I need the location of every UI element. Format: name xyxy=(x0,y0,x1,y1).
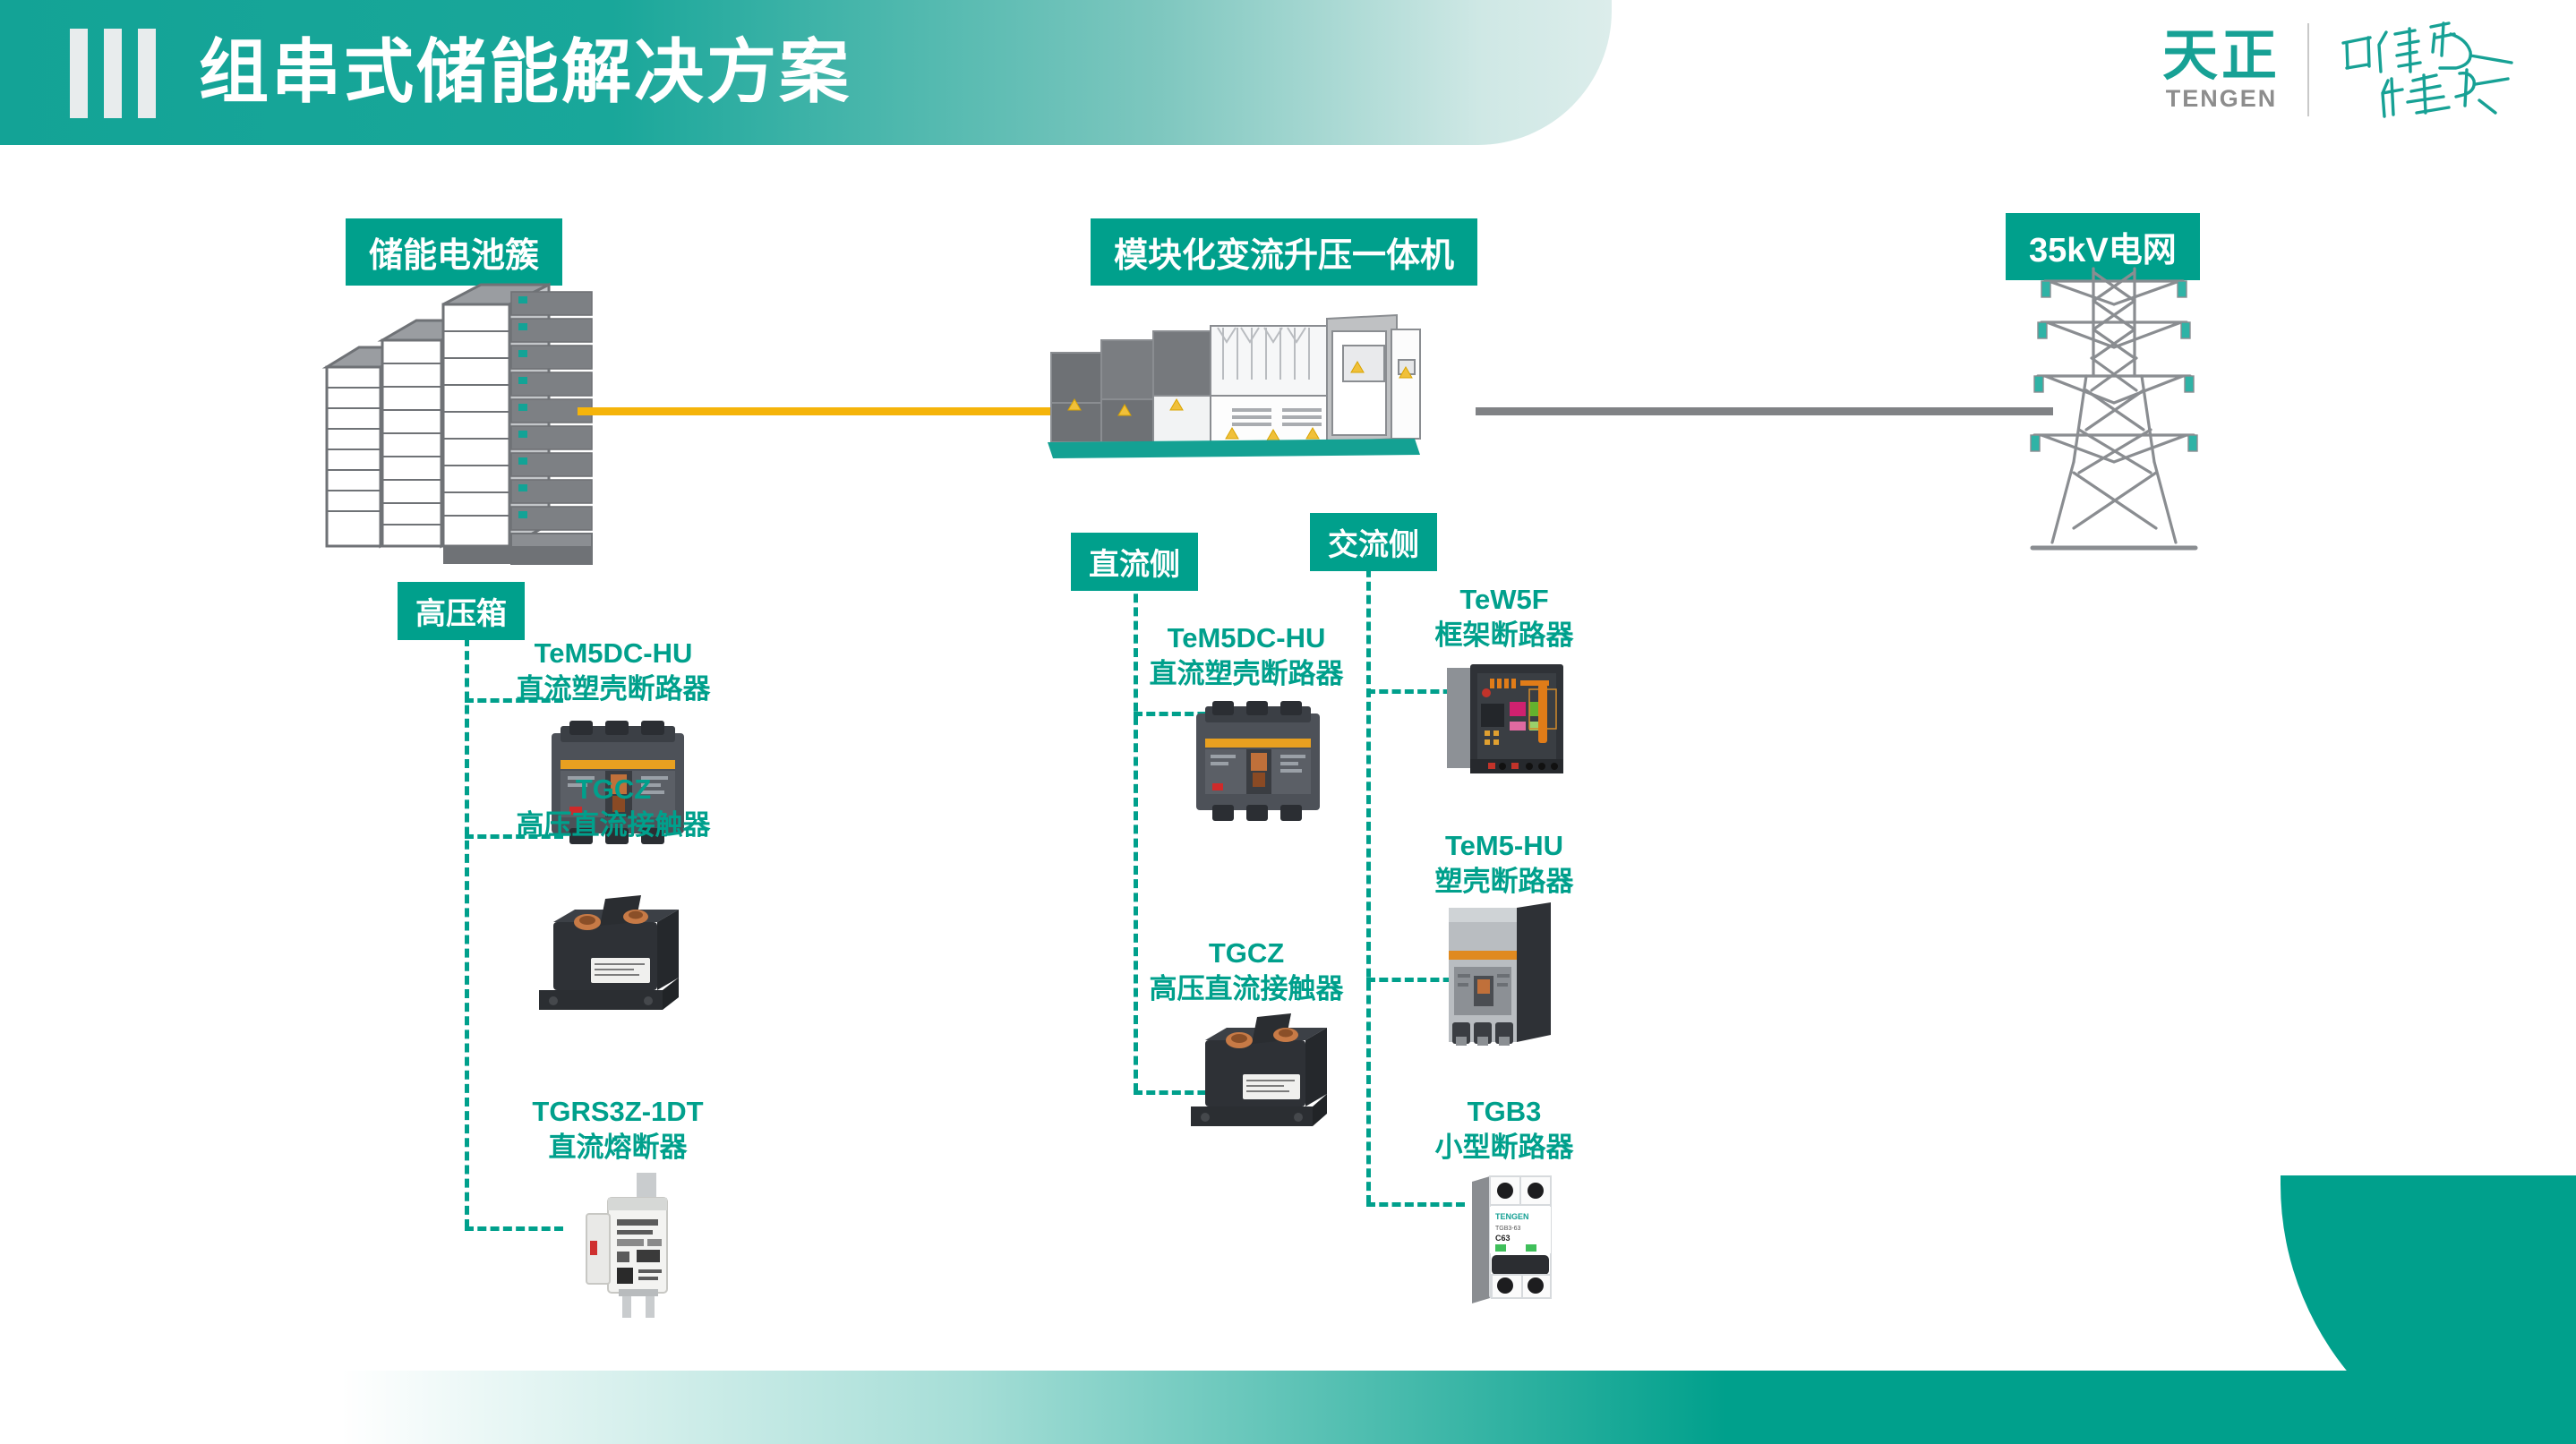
bottom-accent-bar xyxy=(340,1371,2576,1444)
transmission-tower-icon xyxy=(2029,269,2199,555)
svg-text:TGB3-63: TGB3-63 xyxy=(1495,1226,1521,1232)
page-title: 组串式储能解决方案 xyxy=(199,21,852,122)
dc-bus-line xyxy=(578,407,1097,415)
logo-english-name: TENGEN xyxy=(2166,85,2278,112)
product-label-ac-1: TeW5F 框架断路器 xyxy=(1397,582,1612,654)
product-label-hv-1: TeM5DC-HU 直流塑壳断路器 xyxy=(506,636,721,707)
logo-mark: 天正 TENGEN xyxy=(2162,28,2281,112)
logo-chinese-name: 天正 xyxy=(2162,28,2281,85)
acb-icon xyxy=(1443,661,1569,777)
contactor-icon xyxy=(1182,1013,1330,1139)
mccb-ac-icon xyxy=(1443,902,1558,1047)
sub-tag-ac-side: 交流侧 xyxy=(1310,513,1437,571)
sub-tag-hv-box: 高压箱 xyxy=(398,582,525,640)
contactor-icon xyxy=(528,895,680,1021)
stage-tag-battery: 储能电池簇 xyxy=(346,218,562,286)
dc-side-connector-trunk xyxy=(1134,580,1138,1092)
fuse-icon xyxy=(569,1173,685,1329)
hv-box-connector-trunk xyxy=(465,637,469,1228)
battery-rack-icon xyxy=(318,285,604,580)
mcb-icon: TENGEN TGB3-63 C63 xyxy=(1459,1171,1567,1305)
product-label-hv-3: TGRS3Z-1DT 直流熔断器 xyxy=(506,1094,730,1166)
header-bar: 组串式储能解决方案 xyxy=(0,0,1612,145)
ac-side-connector-trunk xyxy=(1366,555,1371,1204)
brand-slogan-handwriting-icon xyxy=(2336,16,2524,124)
product-label-dc-2: TGCZ 高压直流接触器 xyxy=(1139,936,1354,1007)
hv-box-branch-3 xyxy=(465,1226,563,1231)
bottom-corner-curve xyxy=(2281,1175,2576,1444)
product-label-ac-2: TeM5-HU 塑壳断路器 xyxy=(1397,828,1612,900)
ac-bus-line xyxy=(1476,407,2053,415)
product-label-dc-1: TeM5DC-HU 直流塑壳断路器 xyxy=(1139,620,1354,692)
svg-text:TENGEN: TENGEN xyxy=(1495,1212,1529,1221)
pcs-container-icon xyxy=(1048,313,1424,483)
stage-tag-pcs: 模块化变流升压一体机 xyxy=(1091,218,1477,286)
brand-logo: 天正 TENGEN xyxy=(2162,16,2524,124)
mccb-dc-icon xyxy=(1191,701,1325,822)
svg-text:C63: C63 xyxy=(1495,1234,1511,1243)
logo-divider xyxy=(2307,23,2309,116)
header-tick-marks-icon xyxy=(70,29,156,118)
product-label-hv-2: TGCZ 高压直流接触器 xyxy=(506,772,721,843)
ac-side-branch-3 xyxy=(1366,1202,1465,1207)
product-label-ac-3: TGB3 小型断路器 xyxy=(1397,1094,1612,1166)
